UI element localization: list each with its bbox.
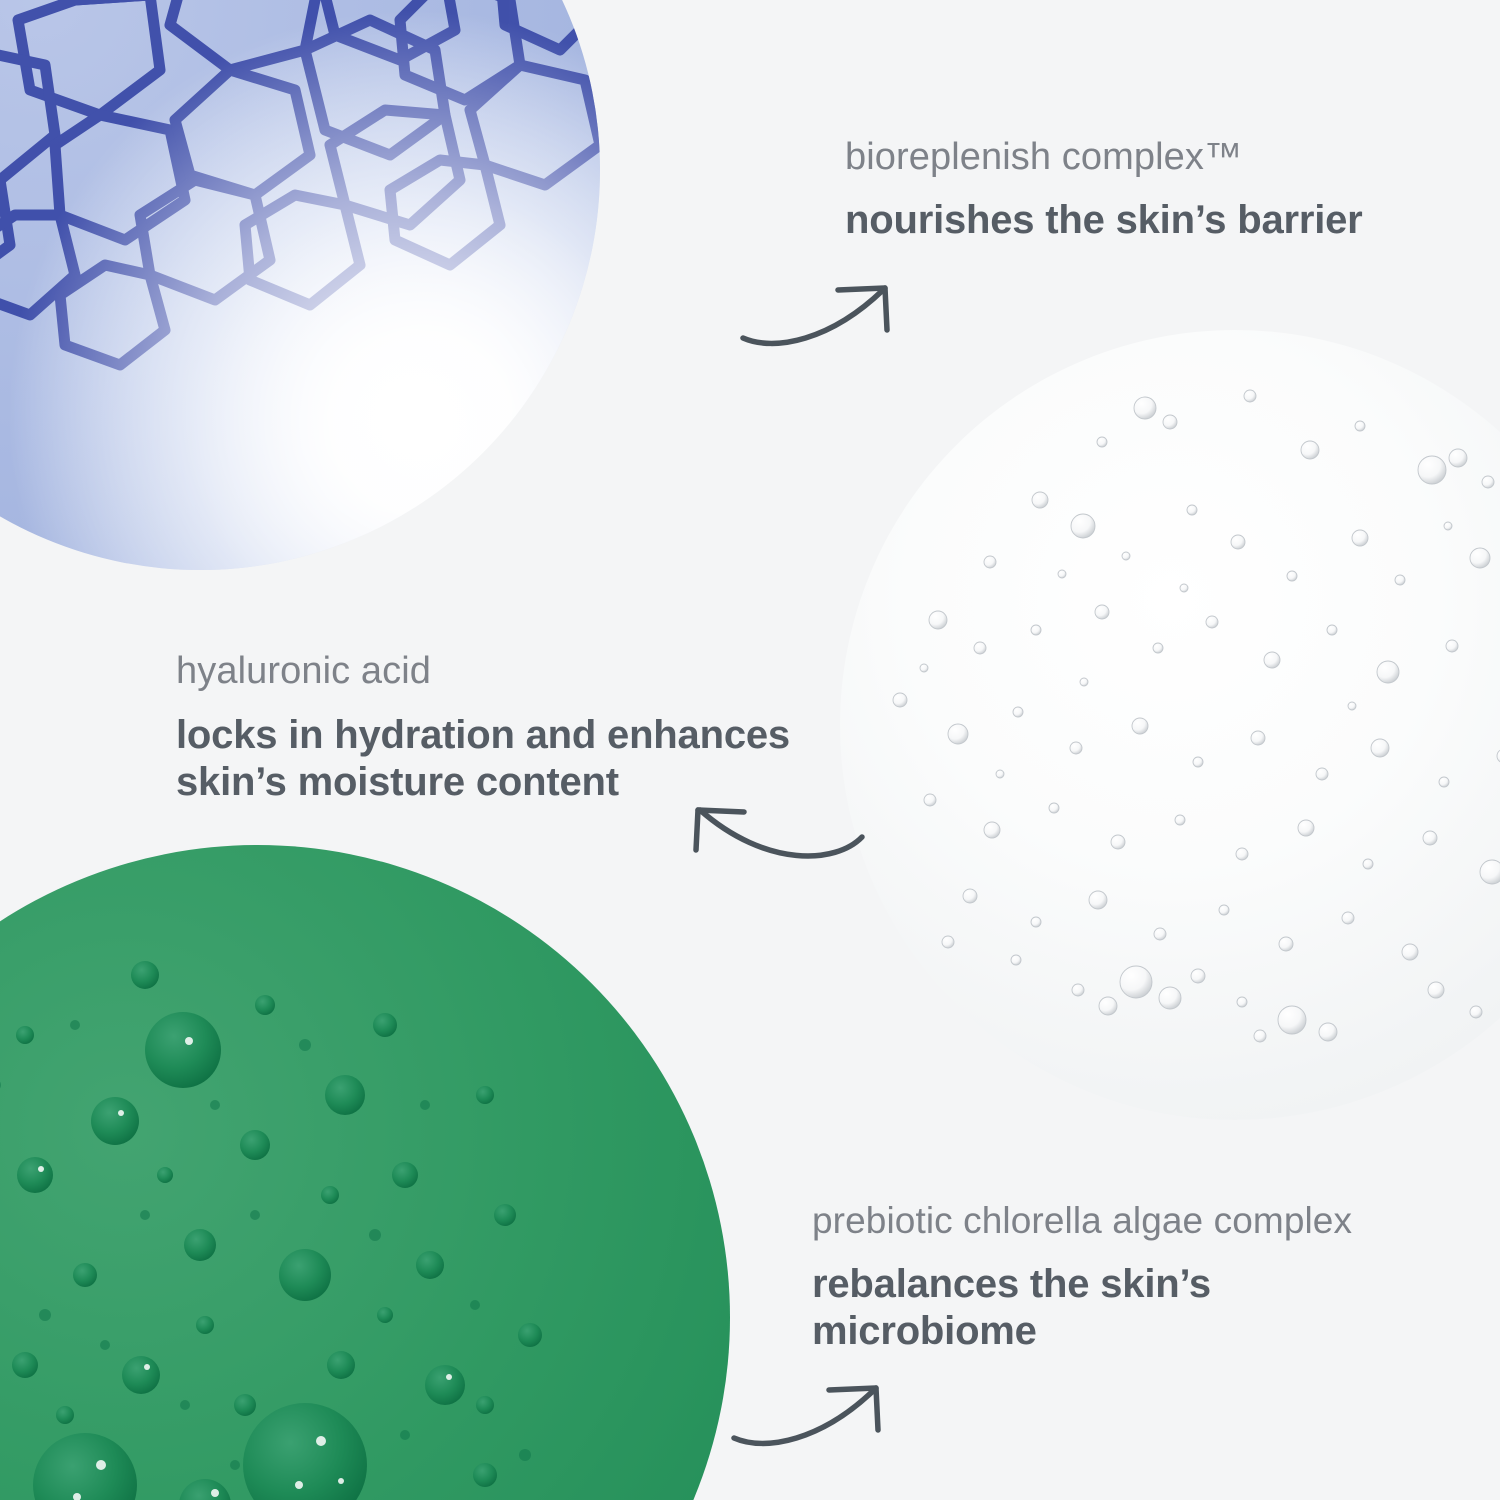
blue-foam-texture	[0, 0, 600, 570]
callout-chlorella-kicker: prebiotic chlorella algae complex	[812, 1200, 1352, 1243]
callout-bioreplenish-claim: nourishes the skin’s barrier	[845, 197, 1363, 244]
swatch-green-algae-gel	[0, 845, 730, 1500]
swatch-blue-bubble-foam	[0, 0, 600, 570]
callout-hyaluronic-kicker: hyaluronic acid	[176, 650, 816, 694]
green-algae-texture	[0, 845, 730, 1500]
curved-arrow-icon	[676, 792, 871, 877]
ingredient-infographic: bioreplenish complex™ nourishes the skin…	[0, 0, 1500, 1500]
clear-gel-texture	[840, 330, 1500, 1120]
swatch-clear-gel-bubbles	[840, 330, 1500, 1120]
callout-chlorella: prebiotic chlorella algae complex rebala…	[812, 1200, 1352, 1355]
callout-chlorella-claim: rebalances the skin’s microbiome	[812, 1261, 1242, 1355]
callout-bioreplenish-kicker: bioreplenish complex™	[845, 136, 1363, 180]
callout-hyaluronic: hyaluronic acid locks in hydration and e…	[176, 650, 816, 806]
curved-arrow-icon	[726, 1368, 916, 1458]
curved-arrow-icon	[735, 268, 925, 358]
callout-bioreplenish: bioreplenish complex™ nourishes the skin…	[845, 136, 1363, 244]
